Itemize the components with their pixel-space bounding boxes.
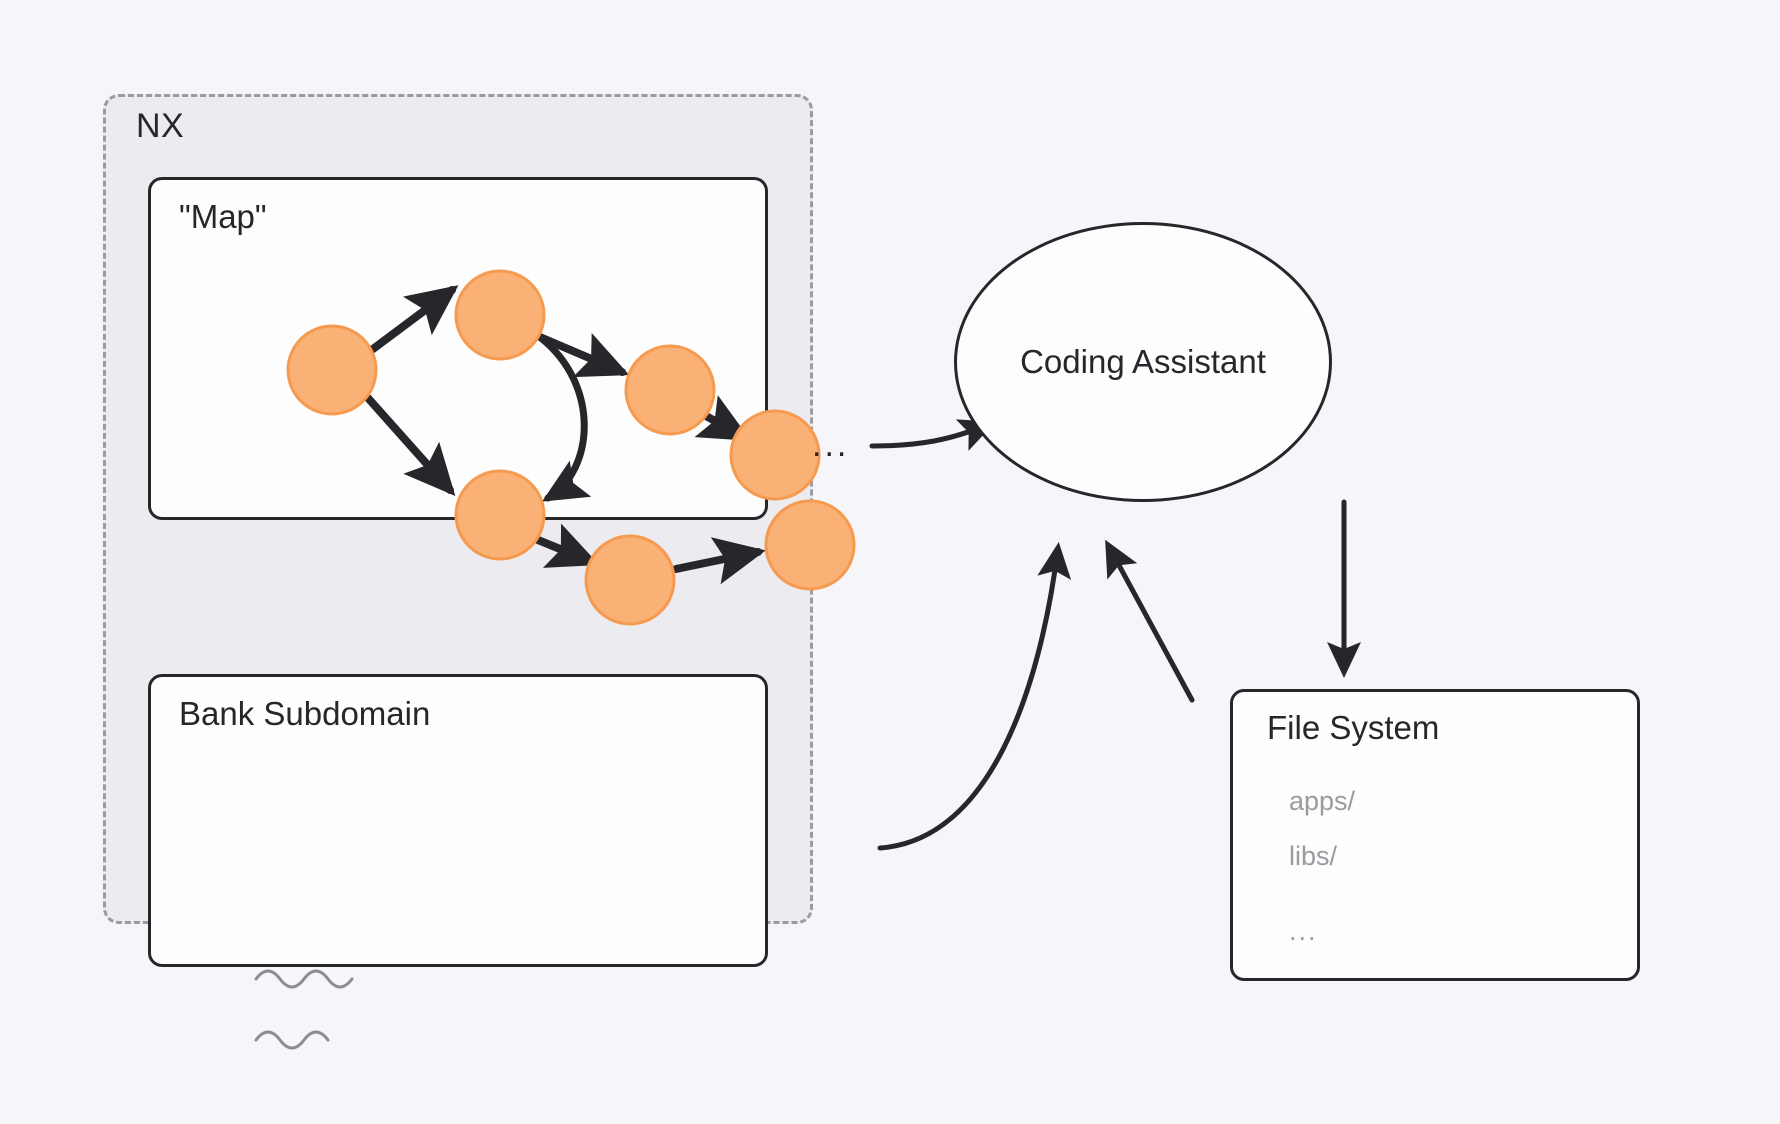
bank-subdomain-title: Bank Subdomain — [179, 695, 430, 733]
file-system-item: apps/ — [1289, 788, 1355, 815]
map-card-title: "Map" — [179, 198, 267, 236]
file-system-item: libs/ — [1289, 843, 1355, 870]
coding-assistant-node: Coding Assistant — [954, 222, 1332, 502]
file-system-item-ellipsis: ... — [1289, 918, 1355, 945]
file-system-title: File System — [1267, 709, 1439, 747]
graph-ellipsis: ... — [812, 428, 849, 462]
coding-assistant-label: Coding Assistant — [1020, 343, 1266, 381]
nx-label: NX — [136, 109, 184, 143]
connector-map-to-assistant — [872, 424, 990, 446]
squiggle-line — [256, 971, 352, 987]
file-system-list: apps/ libs/ ... — [1289, 788, 1355, 945]
connector-fs-to-assistant — [1108, 545, 1192, 700]
connector-bank-to-assistant — [880, 548, 1058, 848]
diagram-canvas: NX "Map" — [0, 0, 1780, 1124]
bank-subdomain-card: Bank Subdomain — [148, 674, 768, 967]
map-card: "Map" — [148, 177, 768, 520]
file-system-card: File System apps/ libs/ ... — [1230, 689, 1640, 981]
squiggle-line — [256, 1032, 328, 1048]
